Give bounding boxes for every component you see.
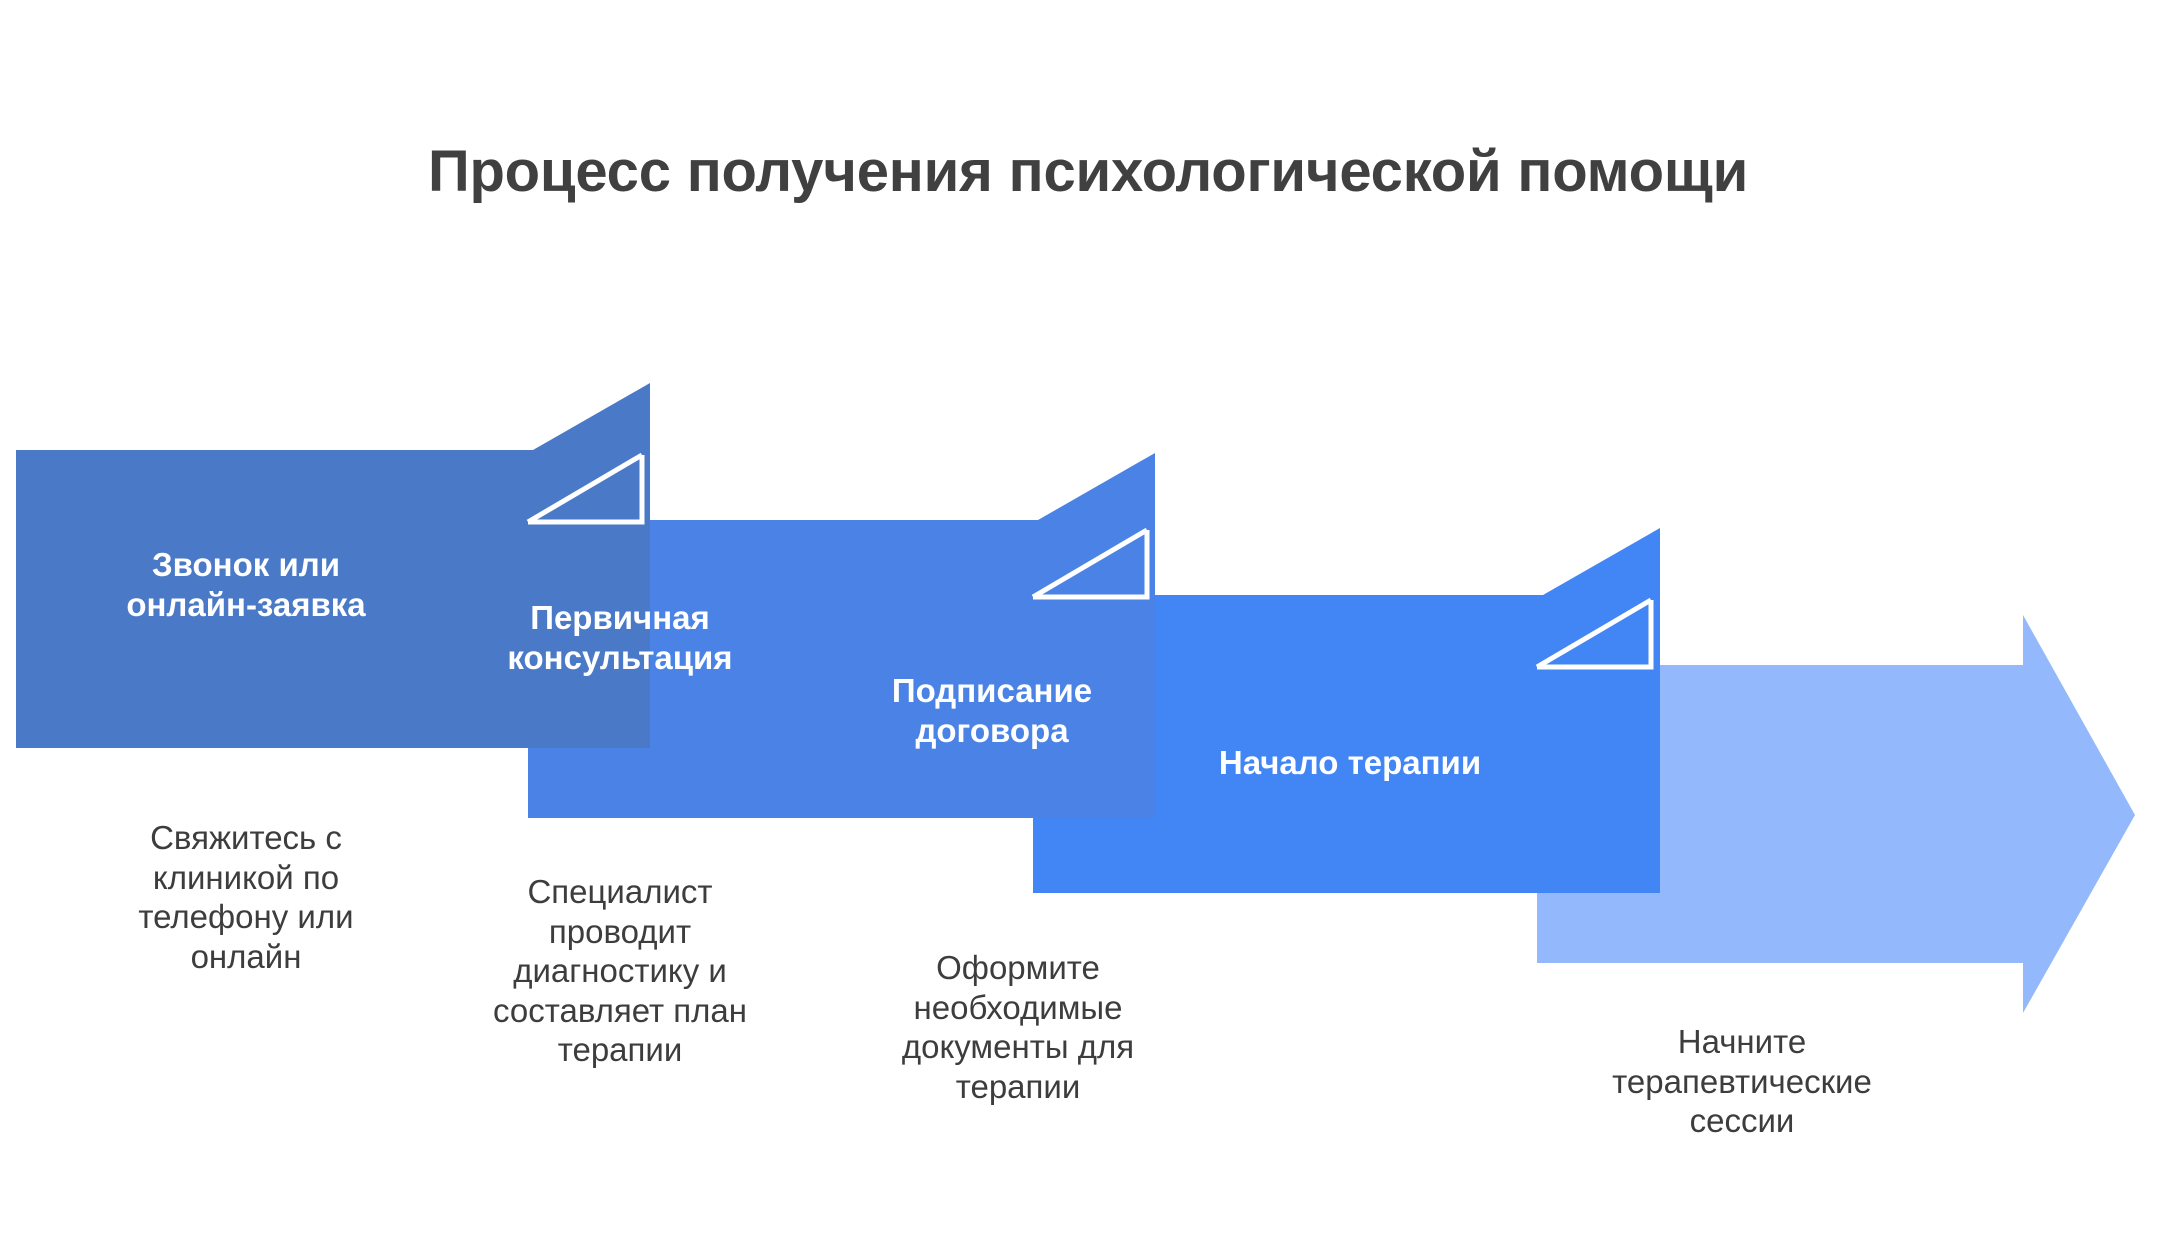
process-step-4-shape[interactable] xyxy=(1537,602,2135,1013)
process-step-3-fold-seam xyxy=(1033,530,1147,597)
process-step-4-fold-seam xyxy=(1537,600,1651,667)
process-step-4-caption: Начните терапевтические сессии xyxy=(1512,1022,1972,1141)
process-step-2-heading: Первичная консультация xyxy=(380,598,860,679)
process-step-3-heading: Подписание договора xyxy=(742,671,1242,752)
process-step-3-caption: Оформите необходимые документы для терап… xyxy=(788,948,1248,1106)
page-title: Процесс получения психологической помощи xyxy=(0,140,2176,204)
process-step-2-fold-seam xyxy=(528,455,642,522)
process-step-4-heading: Начало терапии xyxy=(1100,743,1600,783)
slide-canvas: Процесс получения психологической помощи xyxy=(0,0,2176,1256)
